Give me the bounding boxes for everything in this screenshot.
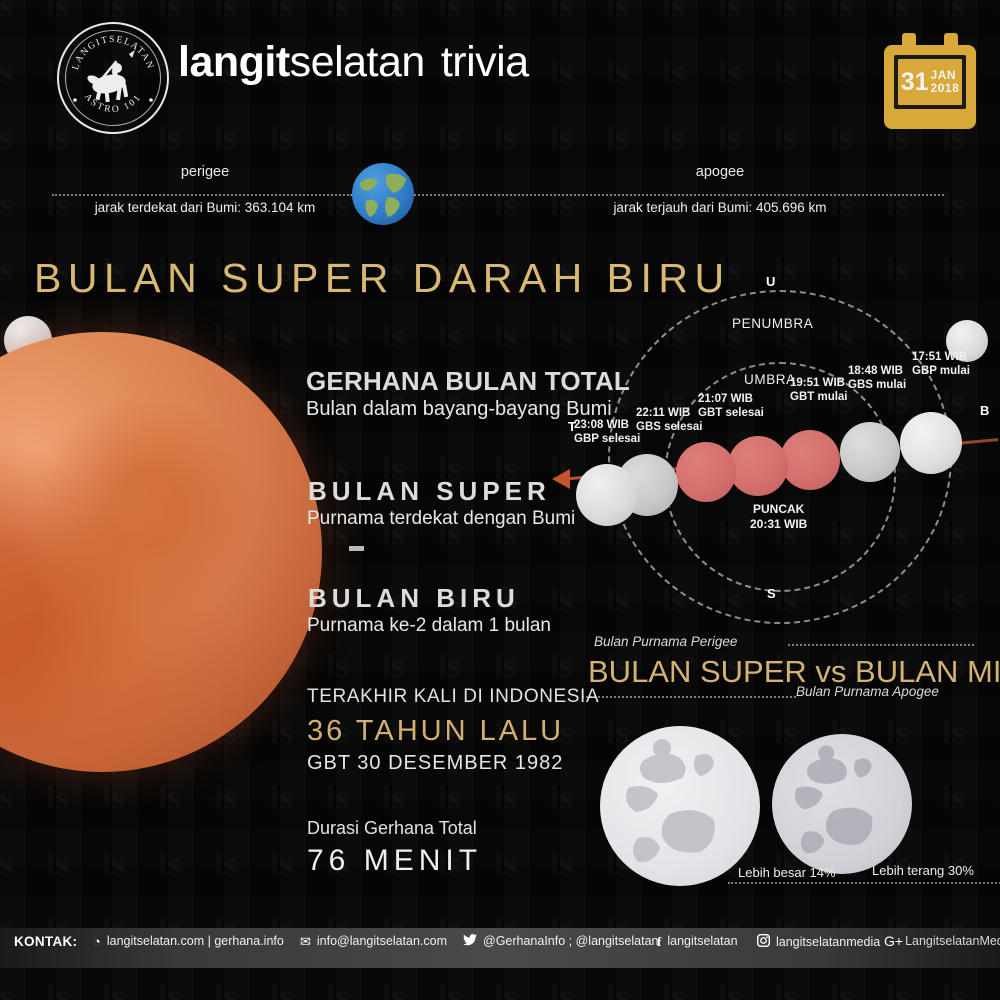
comparison-top-dots	[788, 644, 974, 646]
peak-time: 20:31 WIB	[750, 517, 807, 531]
umbra-label: UMBRA	[744, 372, 796, 387]
footer-item-website[interactable]: ◔ langitselatan.com | gerhana.info	[93, 934, 284, 948]
watermark-glyph: ls	[830, 980, 853, 1000]
watermark-glyph: ls	[326, 782, 349, 816]
watermark-glyph: ls	[0, 980, 13, 1000]
watermark-glyph: ls	[102, 848, 125, 882]
duration-value: 76 MENIT	[307, 844, 482, 878]
earth-globe-icon	[352, 163, 414, 225]
super-moon-mare-pattern	[600, 726, 760, 886]
logo-centaur-icon: LANGITSELATAN ASTRO 101	[59, 24, 167, 132]
calendar-day: 31	[901, 70, 929, 95]
watermark-glyph: ls	[102, 980, 125, 1000]
watermark-glyph: ls	[382, 650, 405, 684]
watermark-glyph: ls	[270, 848, 293, 882]
brand-title: langitselatantrivia	[178, 38, 529, 87]
peak-title: PUNCAK	[753, 502, 804, 516]
penumbra-label: PENUMBRA	[732, 316, 813, 331]
facebook-icon: f	[657, 935, 661, 948]
eclipse-moon-4	[780, 430, 840, 490]
watermark-glyph: ls	[270, 320, 293, 354]
phase-3-time: 21:07 WIB	[698, 393, 753, 405]
phase-label-4: 19:51 WIB GBT mulai	[790, 376, 848, 405]
mini-moon-mare-pattern	[772, 734, 912, 874]
watermark-glyph: ls	[0, 848, 13, 882]
divider-dash	[349, 546, 364, 551]
googleplus-icon: G+	[884, 934, 903, 948]
watermark-glyph: ls	[494, 980, 517, 1000]
duration-label: Durasi Gerhana Total	[307, 818, 477, 839]
peak-label: PUNCAK 20:31 WIB	[750, 502, 807, 532]
footer-email-text: info@langitselatan.com	[317, 934, 447, 948]
caption-bigger: Lebih besar 14%	[738, 865, 836, 880]
cardinal-up: U	[766, 274, 775, 289]
watermark-glyph: ls	[102, 782, 125, 816]
kontak-label: KONTAK:	[14, 934, 77, 949]
watermark-glyph: ls	[438, 980, 461, 1000]
svg-text:ASTRO 101: ASTRO 101	[82, 92, 144, 115]
watermark-glyph: ls	[494, 650, 517, 684]
watermark-glyph: ls	[550, 980, 573, 1000]
phase-4-time: 19:51 WIB	[790, 377, 845, 389]
watermark-glyph: ls	[270, 980, 293, 1000]
moon-path-arrow-icon	[552, 469, 570, 489]
footer-item-googleplus[interactable]: G+ LangitselatanMedia	[884, 934, 1000, 948]
footer-item-email[interactable]: ✉ info@langitselatan.com	[300, 934, 447, 948]
footer-twitter-text: @GerhanaInfo ; @langitselatan	[483, 934, 658, 948]
brand-light: selatan	[290, 38, 425, 86]
footer-website-text: langitselatan.com | gerhana.info	[107, 934, 284, 948]
calendar-date-face: 31 JAN 2018	[898, 59, 962, 105]
calendar-month-year: JAN 2018	[931, 69, 960, 94]
watermark-glyph: ls	[606, 980, 629, 1000]
watermark-glyph: ls	[662, 980, 685, 1000]
apogee-label: apogee	[640, 164, 800, 180]
comparison-top-label: Bulan Purnama Perigee	[594, 634, 737, 649]
watermark-glyph: ls	[46, 782, 69, 816]
watermark-glyph: ls	[0, 782, 13, 816]
phase-6-time: 17:51 WIB	[912, 351, 967, 363]
watermark-glyph: ls	[438, 782, 461, 816]
phase-6-event: GBP mulai	[912, 365, 970, 377]
watermark-glyph: ls	[382, 782, 405, 816]
phase-label-1: 23:08 WIB GBP selesai	[574, 418, 640, 447]
watermark-glyph: ls	[886, 980, 909, 1000]
calendar-year: 2018	[931, 81, 960, 95]
super-moon-illustration	[600, 726, 760, 886]
brand-bold: langit	[178, 38, 290, 86]
brand-trivia: trivia	[441, 38, 529, 86]
watermark-glyph: ls	[494, 848, 517, 882]
phase-5-event: GBS mulai	[848, 379, 906, 391]
perigee-detail: jarak terdekat dari Bumi: 363.104 km	[60, 200, 350, 215]
watermark-glyph: ls	[270, 782, 293, 816]
caption-brighter: Lebih terang 30%	[872, 863, 974, 878]
apogee-dotted-line	[414, 194, 944, 196]
footer-googleplus-text: LangitselatanMedia	[905, 934, 1000, 948]
eclipse-moon-1	[576, 464, 638, 526]
comparison-bottom-label: Bulan Purnama Apogee	[796, 684, 939, 699]
infographic-canvas: lslslslslslslslslslslslslslslslslslslsls…	[0, 0, 1000, 1000]
rss-icon: ◔	[93, 935, 101, 948]
footer-facebook-text: langitselatan	[667, 934, 737, 948]
footer-item-facebook[interactable]: f langitselatan	[657, 934, 738, 948]
watermark-glyph: ls	[46, 848, 69, 882]
phase-4-event: GBT mulai	[790, 391, 848, 403]
feature-subtitle-2: Purnama terdekat dengan Bumi	[307, 508, 575, 530]
watermark-glyph: ls	[214, 320, 237, 354]
perigee-dotted-line	[52, 194, 352, 196]
footer-item-instagram[interactable]: langitselatanmedia	[757, 934, 880, 949]
watermark-glyph: ls	[326, 980, 349, 1000]
phase-2-event: GBS selesai	[636, 421, 702, 433]
watermark-glyph: ls	[942, 980, 965, 1000]
watermark-glyph: ls	[438, 320, 461, 354]
perigee-apogee-band: perigee jarak terdekat dari Bumi: 363.10…	[0, 150, 1000, 235]
watermark-glyph: ls	[494, 782, 517, 816]
watermark-glyph: ls	[158, 848, 181, 882]
phase-label-2: 22:11 WIB GBS selesai	[636, 406, 702, 435]
watermark-glyph: ls	[326, 320, 349, 354]
eclipse-moon-5	[840, 422, 900, 482]
caption-dots-left	[728, 882, 1000, 884]
langitselatan-logo-seal: LANGITSELATAN ASTRO 101	[57, 22, 169, 134]
watermark-glyph: ls	[382, 320, 405, 354]
phase-2-time: 22:11 WIB	[636, 407, 690, 419]
phase-label-3: 21:07 WIB GBT selesai	[698, 392, 764, 421]
feature-title-3: BULAN BIRU	[308, 583, 520, 614]
watermark-glyph: ls	[214, 848, 237, 882]
instagram-icon	[757, 934, 770, 949]
eclipse-diagram: U S T B PENUMBRA UMBRA 23:08 WIB GBP sel…	[552, 278, 1000, 613]
footer-item-twitter[interactable]: @GerhanaInfo ; @langitselatan	[463, 934, 658, 948]
super-vs-mini-section: Bulan Purnama Perigee BULAN SUPER vs BUL…	[560, 630, 1000, 890]
watermark-glyph: ls	[774, 980, 797, 1000]
phase-5-time: 18:48 WIB	[848, 365, 903, 377]
phase-1-event: GBP selesai	[574, 433, 640, 445]
eclipse-moon-peak	[728, 436, 788, 496]
mini-moon-illustration	[772, 734, 912, 874]
feature-title-2: BULAN SUPER	[308, 476, 551, 507]
history-value: 36 TAHUN LALU	[307, 715, 564, 748]
apogee-detail: jarak terjauh dari Bumi: 405.696 km	[575, 200, 865, 215]
calendar-screen: 31 JAN 2018	[894, 55, 966, 109]
watermark-glyph: ls	[438, 650, 461, 684]
footer-instagram-text: langitselatanmedia	[776, 935, 880, 949]
feature-subtitle-3: Purnama ke-2 dalam 1 bulan	[307, 615, 551, 637]
watermark-glyph: ls	[214, 782, 237, 816]
phase-3-event: GBT selesai	[698, 407, 764, 419]
watermark-glyph: ls	[158, 782, 181, 816]
watermark-glyph: ls	[382, 980, 405, 1000]
watermark-glyph: ls	[326, 650, 349, 684]
watermark-glyph: ls	[0, 254, 13, 288]
phase-1-time: 23:08 WIB	[574, 419, 629, 431]
history-detail: GBT 30 DESEMBER 1982	[307, 752, 563, 775]
eclipse-moon-6	[900, 412, 962, 474]
comparison-bottom-dots	[582, 696, 796, 698]
cardinal-right: B	[980, 403, 989, 418]
watermark-glyph: ls	[158, 980, 181, 1000]
history-label: TERAKHIR KALI DI INDONESIA	[307, 686, 599, 708]
email-icon: ✉	[300, 935, 311, 948]
watermark-glyph: ls	[46, 980, 69, 1000]
watermark-glyph: ls	[718, 980, 741, 1000]
twitter-icon	[463, 934, 477, 948]
cardinal-down: S	[767, 586, 776, 601]
calendar-body: 31 JAN 2018	[884, 45, 976, 129]
watermark-glyph: ls	[494, 320, 517, 354]
calendar-icon: 31 JAN 2018	[884, 33, 976, 129]
phase-label-6: 17:51 WIB GBP mulai	[912, 350, 970, 379]
header: LANGITSELATAN ASTRO 101	[0, 0, 1000, 150]
watermark-glyph: ls	[270, 716, 293, 750]
watermark-glyph: ls	[214, 980, 237, 1000]
eclipse-moon-3	[676, 442, 736, 502]
phase-label-5: 18:48 WIB GBS mulai	[848, 364, 906, 393]
perigee-label: perigee	[120, 164, 290, 180]
